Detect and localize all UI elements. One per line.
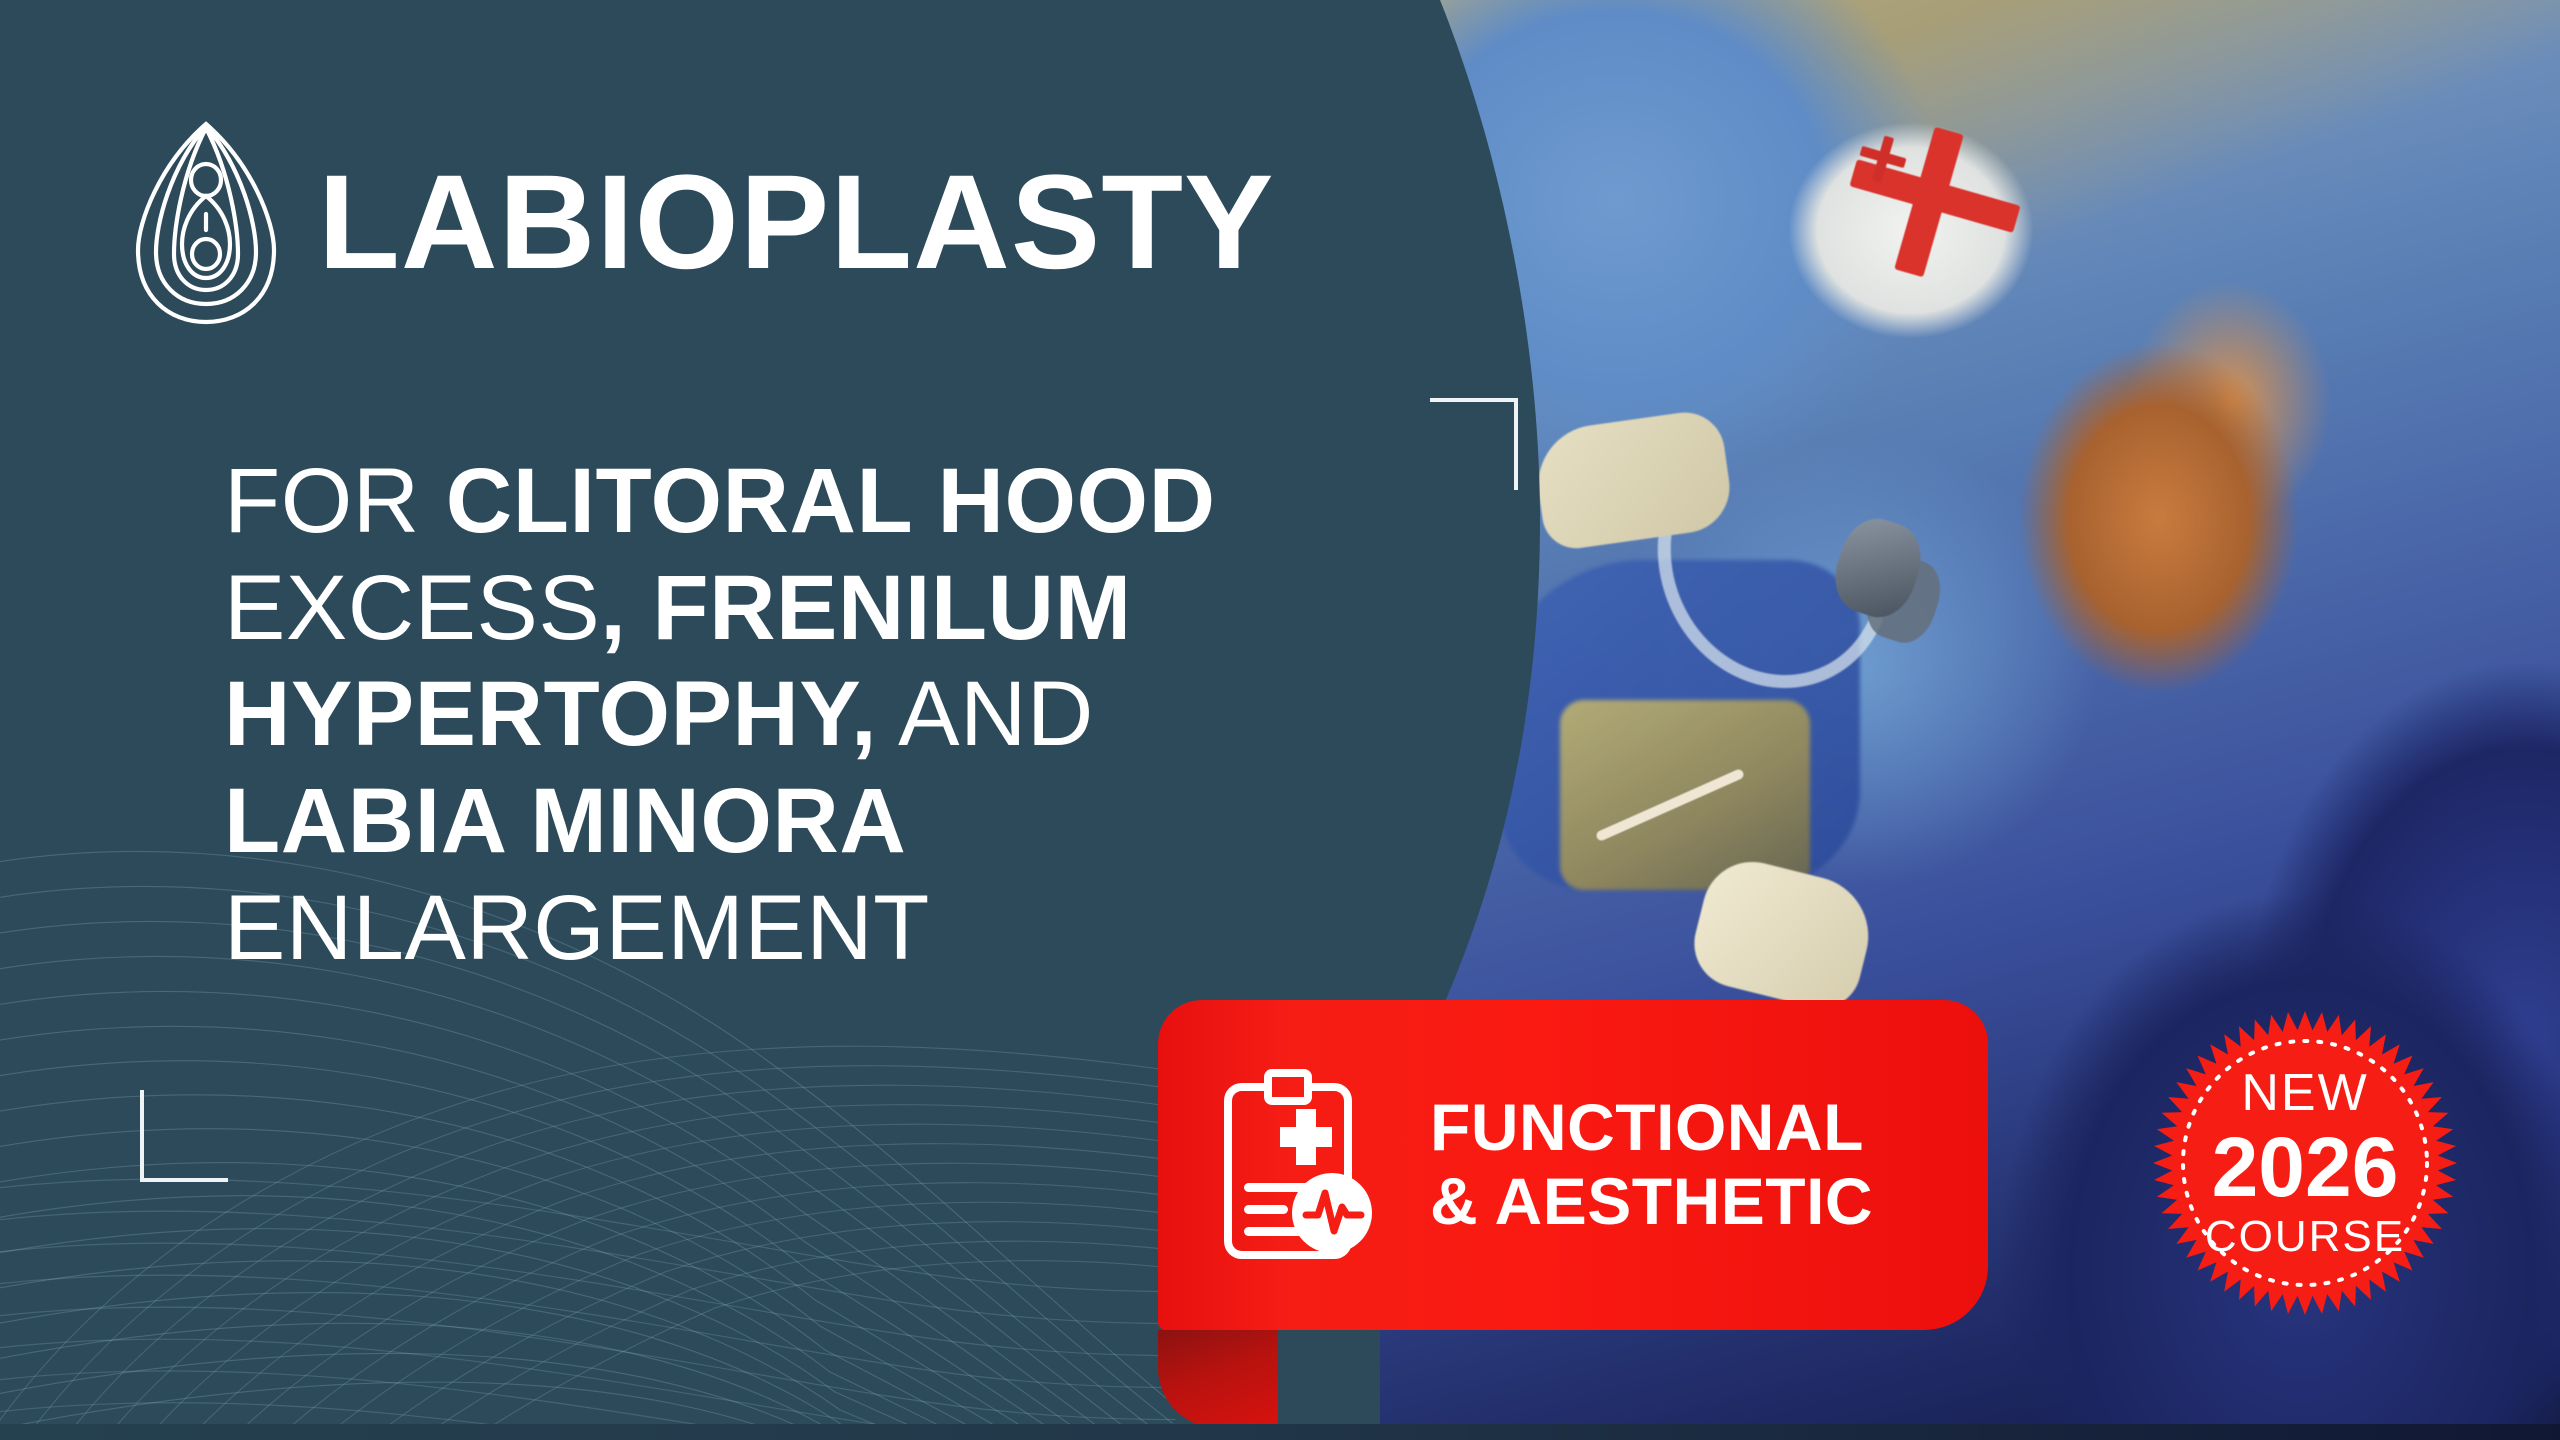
subheadline: FOR CLITORAL HOODEXCESS, FRENILUMHYPERTO…: [224, 448, 1474, 982]
subheadline-line-2: EXCESS, FRENILUM: [224, 555, 1474, 662]
vulva-outline-logo-icon: [132, 118, 280, 328]
subheadline-line-5: ENLARGEMENT: [224, 875, 1474, 982]
functional-aesthetic-ribbon: FUNCTIONAL & AESTHETIC: [1158, 1000, 1988, 1330]
subheadline-line-3: HYPERTOPHY, AND: [224, 661, 1474, 768]
ribbon-text: FUNCTIONAL & AESTHETIC: [1430, 1091, 1873, 1239]
corner-bracket-bottom-left: [140, 1090, 228, 1182]
subheadline-line-1: FOR CLITORAL HOOD: [224, 448, 1474, 555]
badge-bottom-label: COURSE: [2205, 1215, 2405, 1259]
brand-logo: LABIOPLASTY: [132, 118, 1274, 328]
new-course-badge: NEW 2026 COURSE: [2150, 1008, 2460, 1318]
promo-banner: LABIOPLASTY FOR CLITORAL HOODEXCESS, FRE…: [0, 0, 2560, 1440]
bottom-strip: [0, 1424, 2560, 1440]
subheadline-line-4: LABIA MINORA: [224, 768, 1474, 875]
ribbon-line-2: & AESTHETIC: [1430, 1165, 1873, 1239]
ribbon-line-1: FUNCTIONAL: [1430, 1091, 1873, 1165]
page-title: LABIOPLASTY: [318, 156, 1274, 290]
corner-bracket-top-right: [1430, 398, 1518, 490]
badge-top-label: NEW: [2241, 1067, 2368, 1119]
medical-clipboard-pulse-icon: [1214, 1065, 1390, 1265]
badge-year-label: 2026: [2212, 1125, 2399, 1209]
